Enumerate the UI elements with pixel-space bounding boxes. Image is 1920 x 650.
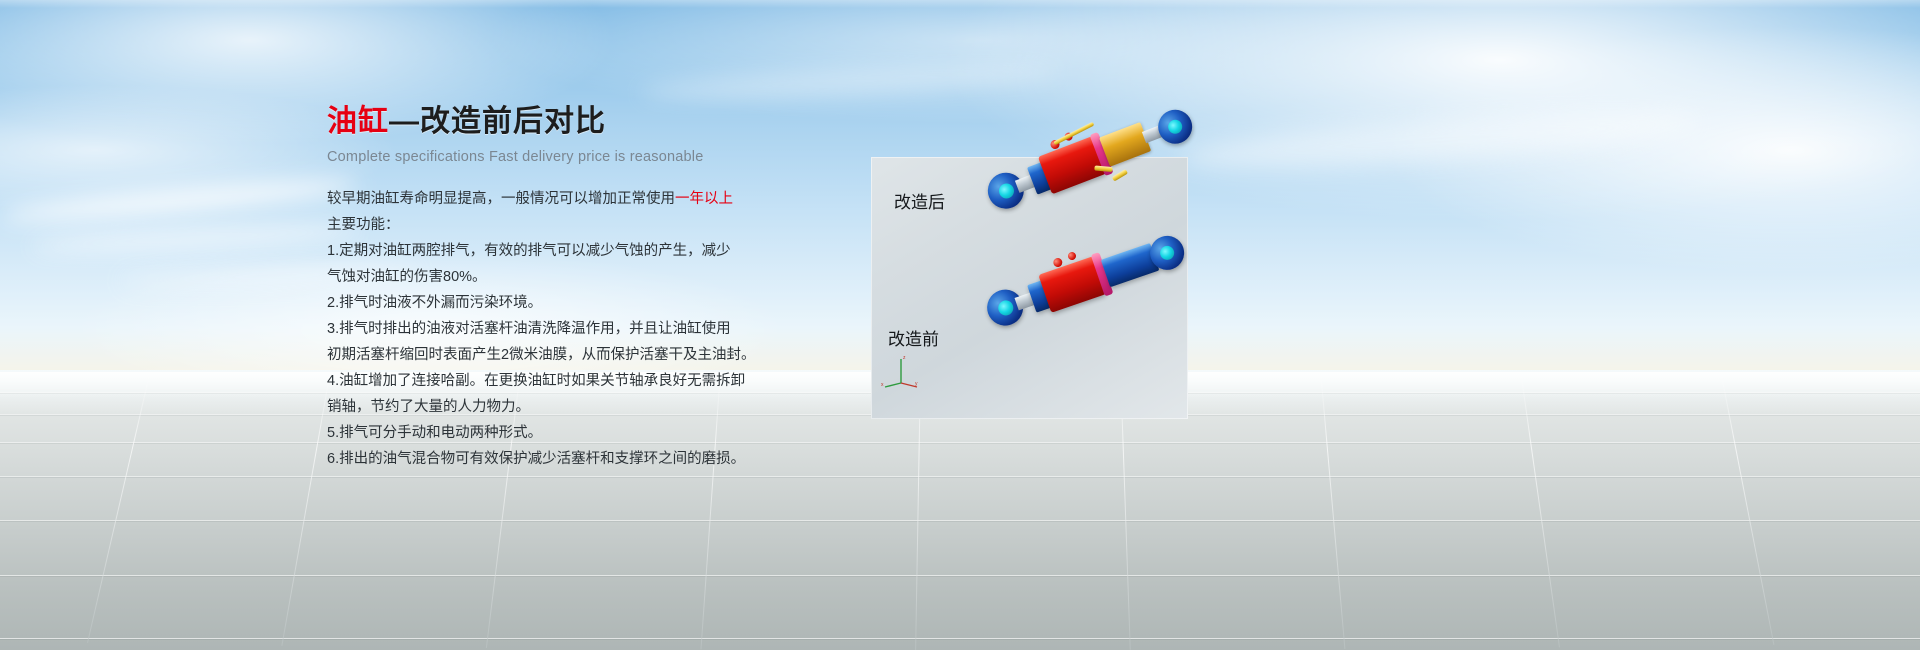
ground-grid-line bbox=[0, 638, 1920, 639]
feature-line: 主要功能： bbox=[327, 212, 887, 238]
page-title: 油缸—改造前后对比 bbox=[327, 104, 887, 140]
svg-text:x: x bbox=[881, 382, 884, 388]
hydraulic-cylinder-banner: 油缸—改造前后对比 Complete specifications Fast d… bbox=[0, 0, 1920, 650]
cloud-streak bbox=[30, 219, 361, 256]
feature-line: 4.油缸增加了连接哈副。在更换油缸时如果关节轴承良好无需拆卸 bbox=[327, 368, 887, 394]
feature-line: 销轴，节约了大量的人力物力。 bbox=[327, 394, 887, 420]
copy-column: 油缸—改造前后对比 Complete specifications Fast d… bbox=[327, 104, 887, 472]
cad-axis-triad-icon: z x y bbox=[881, 353, 921, 389]
label-after-modification: 改造后 bbox=[894, 188, 945, 213]
feature-line: 5.排气可分手动和电动两种形式。 bbox=[327, 420, 887, 446]
bleed-tube bbox=[1112, 169, 1128, 182]
feature-line: 1.定期对油缸两腔排气，有效的排气可以减少气蚀的产生，减少 bbox=[327, 238, 887, 264]
page-subtitle: Complete specifications Fast delivery pr… bbox=[327, 149, 887, 165]
cloud-streak bbox=[1179, 102, 1701, 178]
page-title-highlight: 油缸 bbox=[327, 105, 389, 138]
feature-line: 2.排气时油液不外漏而污染环境。 bbox=[327, 290, 887, 316]
svg-text:y: y bbox=[915, 381, 918, 387]
label-before-modification: 改造前 bbox=[888, 325, 939, 350]
feature-line: 3.排气时排出的油液对活塞杆油清洗降温作用，并且让油缸使用 bbox=[327, 316, 887, 342]
feature-lead-line: 较早期油缸寿命明显提高，一般情况可以增加正常使用一年以上 bbox=[327, 186, 887, 212]
cloud-streak bbox=[640, 59, 1061, 105]
feature-lead-highlight: 一年以上 bbox=[675, 191, 733, 207]
feature-lead-text: 较早期油缸寿命明显提高，一般情况可以增加正常使用 bbox=[327, 191, 675, 207]
ground-grid-line bbox=[0, 476, 1920, 477]
svg-text:z: z bbox=[903, 355, 906, 361]
product-comparison-panel: 改造后 改造前 bbox=[871, 157, 1188, 419]
feature-line: 6.排出的油气混合物可有效保护减少活塞杆和支撑环之间的磨损。 bbox=[327, 446, 887, 472]
ground-grid-line bbox=[0, 442, 1920, 443]
feature-line: 气蚀对油缸的伤害80%。 bbox=[327, 264, 887, 290]
cloud-streak bbox=[0, 172, 360, 229]
page-title-rest: —改造前后对比 bbox=[389, 105, 606, 138]
port-knob bbox=[1067, 251, 1077, 261]
feature-line: 初期活塞杆缩回时表面产生2微米油膜，从而保护活塞干及主油封。 bbox=[327, 342, 887, 368]
ground-grid-line bbox=[0, 575, 1920, 576]
feature-list: 较早期油缸寿命明显提高，一般情况可以增加正常使用一年以上 主要功能： 1.定期对… bbox=[327, 186, 887, 472]
ground-grid-line bbox=[0, 520, 1920, 521]
